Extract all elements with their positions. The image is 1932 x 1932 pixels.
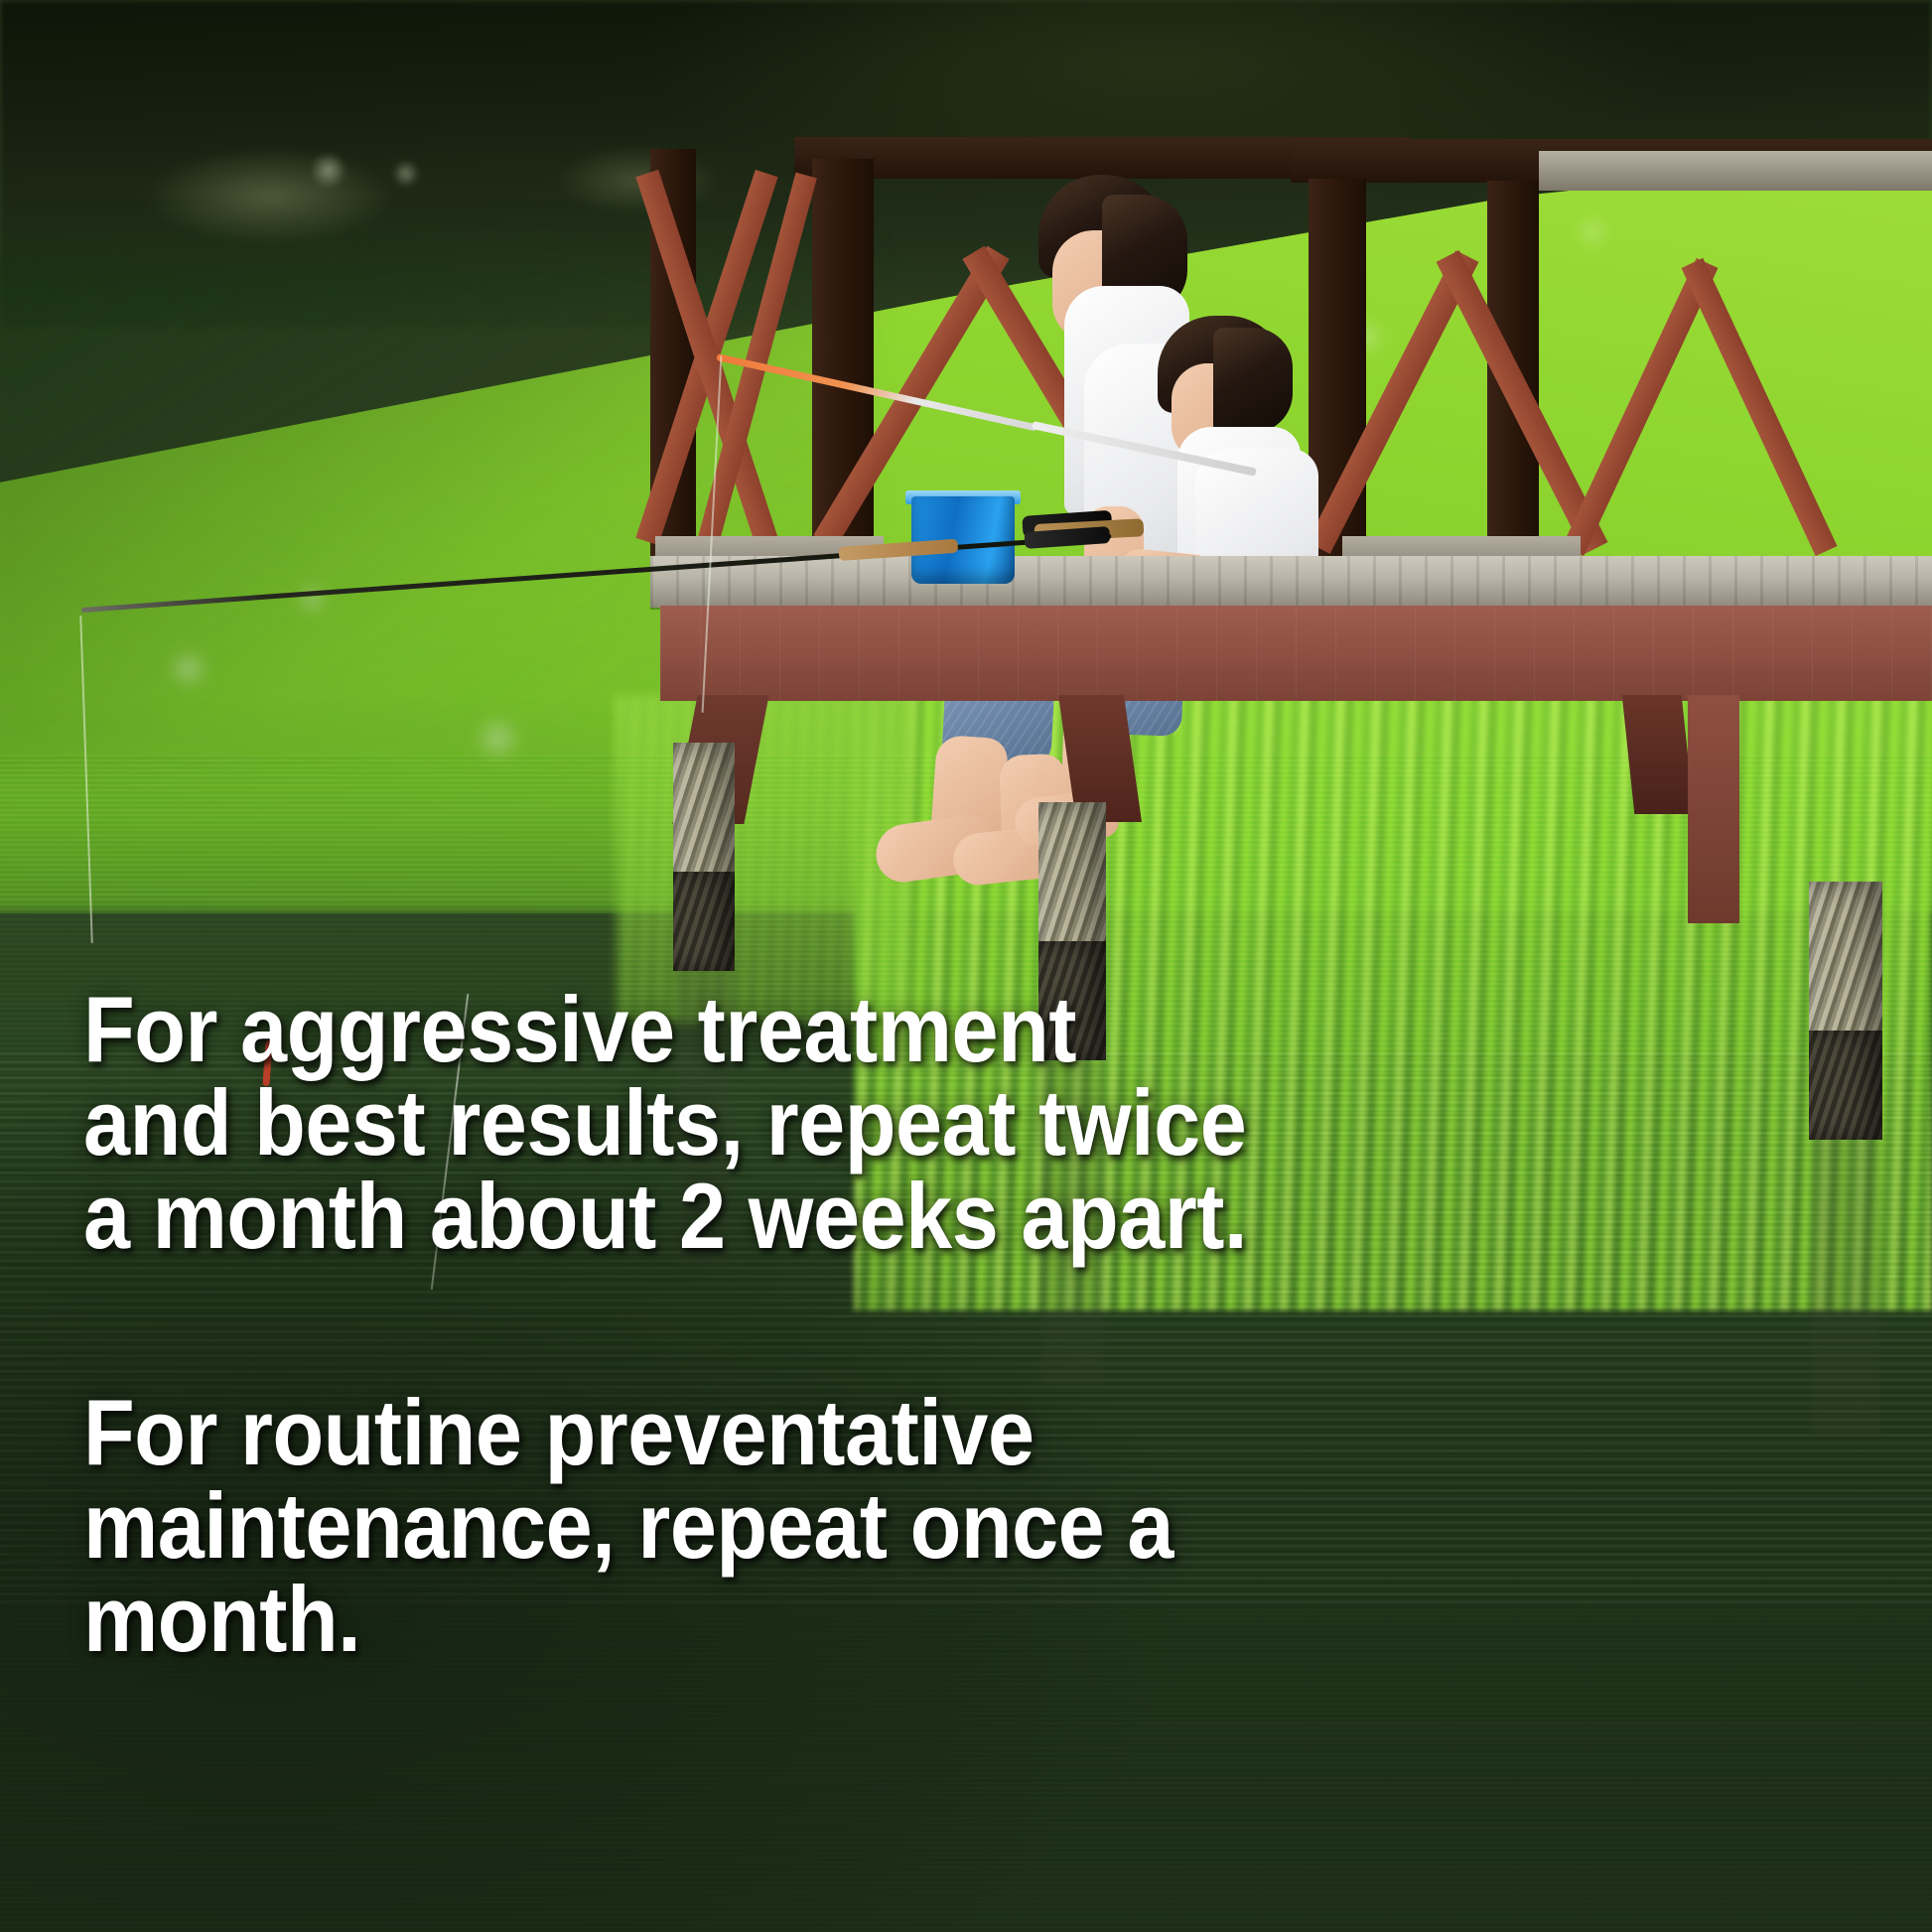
overlay-paragraph-routine-maintenance: For routine preventative maintenance, re… [83,1386,1424,1666]
rope-piling-3 [1809,882,1882,1140]
boy-hair-back [1213,328,1293,433]
dock-brace-3 [1622,695,1695,814]
rope-piling-1 [673,743,735,971]
dock-beam [660,606,1932,701]
dock-deck [650,556,1932,608]
poster-canvas: For aggressive treatment and best result… [0,0,1932,1932]
overlay-paragraph-aggressive-treatment: For aggressive treatment and best result… [83,983,1424,1263]
dock-post-right [1688,695,1739,923]
piling-reflection-3 [1811,1140,1880,1438]
overlay-text-block: For aggressive treatment and best result… [83,983,1573,1666]
railing-cap-far-right [1539,151,1932,191]
